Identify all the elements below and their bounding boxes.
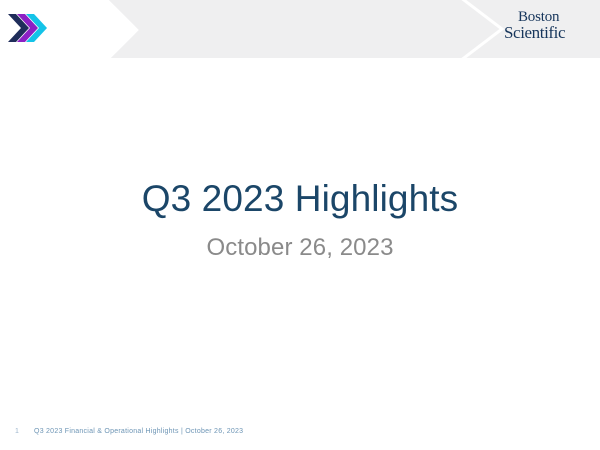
footer-text: Q3 2023 Financial & Operational Highligh…: [34, 428, 243, 435]
page-title: Q3 2023 Highlights: [0, 178, 600, 221]
wordmark-line-scientific: Scientific: [504, 24, 586, 41]
boston-scientific-arrows-logo-icon: [8, 13, 50, 43]
slide-canvas: Boston Scientific Q3 2023 Highlights Oct…: [0, 0, 600, 450]
page-subtitle: October 26, 2023: [0, 234, 600, 262]
slide-footer: 1 Q3 2023 Financial & Operational Highli…: [0, 424, 600, 438]
boston-scientific-wordmark: Boston Scientific: [504, 10, 586, 41]
header-chevron-divider: [452, 0, 510, 58]
footer-page-number: 1: [0, 428, 34, 435]
title-block: Q3 2023 Highlights October 26, 2023: [0, 178, 600, 261]
